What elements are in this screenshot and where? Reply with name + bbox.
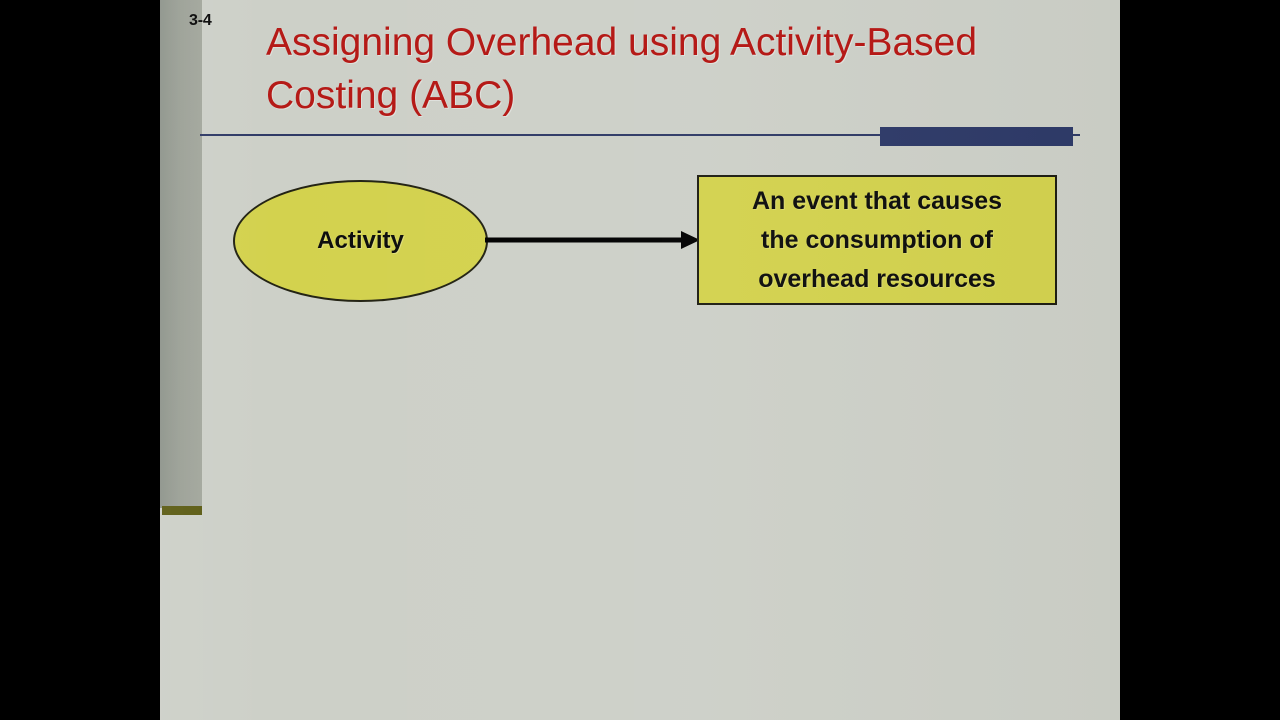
screen: 3-4 Assigning Overhead using Activity-Ba… (0, 0, 1280, 720)
title-accent-block (880, 127, 1073, 146)
page-title: Assigning Overhead using Activity-Based … (266, 16, 1026, 122)
definition-line-2: the consumption of (761, 221, 993, 260)
left-decorative-band-cap (162, 506, 202, 515)
letterbox-left (0, 0, 160, 720)
activity-ellipse-label: Activity (317, 227, 404, 255)
definition-line-3: overhead resources (758, 260, 996, 299)
definition-callout-box: An event that causes the consumption of … (697, 175, 1057, 305)
slide-canvas: 3-4 Assigning Overhead using Activity-Ba… (160, 0, 1120, 720)
flow-arrow-icon (485, 228, 700, 252)
definition-line-1: An event that causes (752, 182, 1002, 221)
letterbox-right (1120, 0, 1280, 720)
activity-ellipse-node: Activity (233, 180, 488, 302)
left-decorative-band (160, 0, 202, 508)
slide-number: 3-4 (189, 12, 212, 30)
